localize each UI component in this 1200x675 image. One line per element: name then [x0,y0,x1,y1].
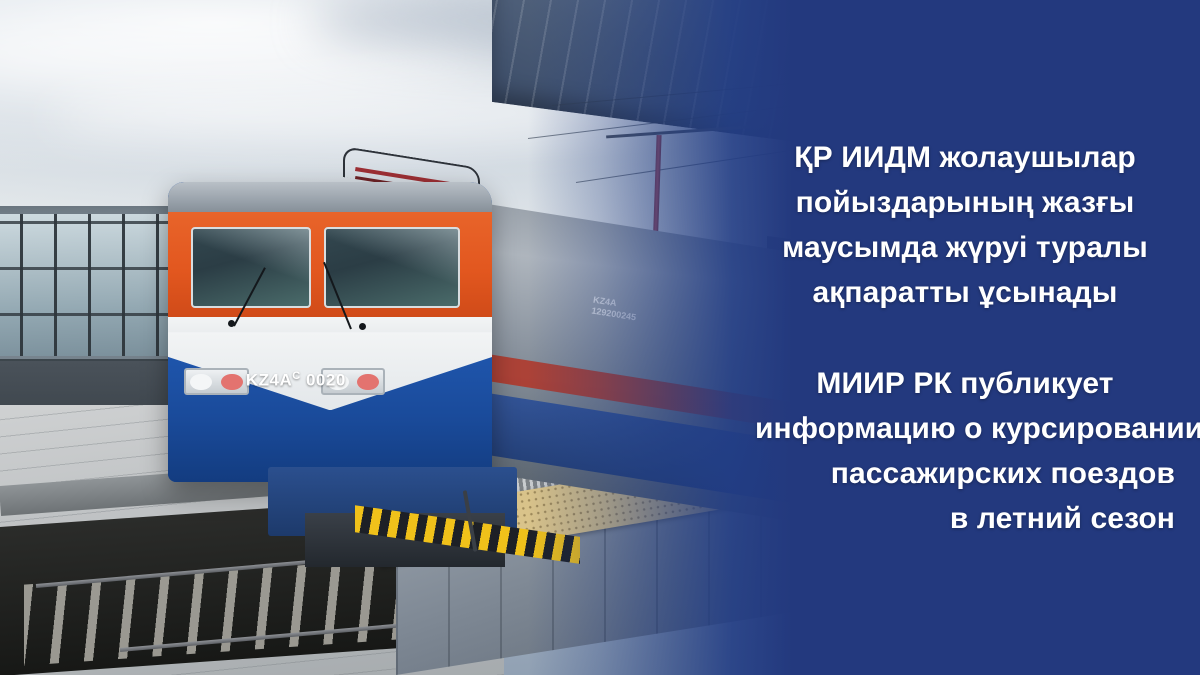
kazakh-line-1: ҚР ИИДМ жолаушылар [755,135,1175,180]
russian-line-4: в летний сезон [755,496,1175,541]
russian-line-3: пассажирских поездов [755,451,1175,496]
announcement-banner: KZ4A 129200245 [0,0,1200,675]
kazakh-line-2: пойыздарының жазғы [755,180,1175,225]
kazakh-line-4: ақпаратты ұсынады [755,270,1175,315]
russian-text-block: МИИР РК публикует информацию о курсирова… [755,361,1175,541]
announcement-text: ҚР ИИДМ жолаушылар пойыздарының жазғы ма… [755,0,1175,675]
russian-line-2: информацию о курсировании [755,406,1175,451]
kazakh-line-3: маусымда жүруі туралы [755,225,1175,270]
kazakh-text-block: ҚР ИИДМ жолаушылар пойыздарының жазғы ма… [755,135,1175,315]
russian-line-1: МИИР РК публикует [755,361,1175,406]
